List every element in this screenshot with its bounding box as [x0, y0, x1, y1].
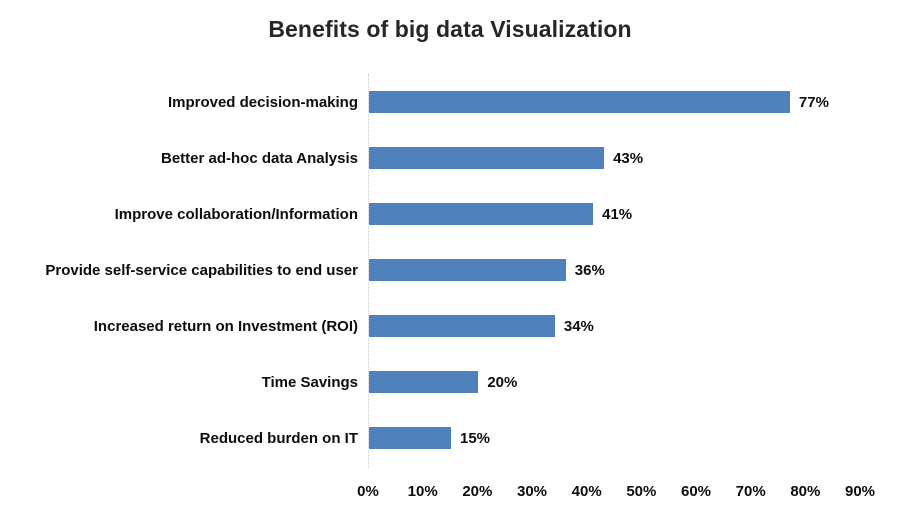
bar-value-label: 41%	[602, 207, 632, 222]
x-axis-tick-label: 50%	[611, 483, 671, 500]
category-label: Improved decision-making	[0, 74, 358, 130]
category-label: Better ad-hoc data Analysis	[0, 130, 358, 186]
category-label: Time Savings	[0, 354, 358, 410]
bar-value-label: 43%	[613, 151, 643, 166]
bar-track: 34%	[369, 298, 900, 354]
bar-value-label: 20%	[487, 375, 517, 390]
category-label: Provide self-service capabilities to end…	[0, 242, 358, 298]
category-label: Increased return on Investment (ROI)	[0, 298, 358, 354]
bar-track: 36%	[369, 242, 900, 298]
bar-track: 43%	[369, 130, 900, 186]
bar[interactable]	[369, 147, 604, 169]
bar-track: 77%	[369, 74, 900, 130]
x-axis-tick-label: 0%	[338, 483, 398, 500]
bar-row: Provide self-service capabilities to end…	[0, 242, 900, 298]
bar-track: 15%	[369, 410, 900, 466]
x-axis-tick-label: 60%	[666, 483, 726, 500]
x-axis-tick-labels: 0%10%20%30%40%50%60%70%80%90%	[368, 483, 860, 507]
bar-row: Improved decision-making77%	[0, 74, 900, 130]
category-label: Improve collaboration/Information	[0, 186, 358, 242]
x-axis-tick-label: 40%	[557, 483, 617, 500]
bar[interactable]	[369, 315, 555, 337]
x-axis-tick-label: 10%	[393, 483, 453, 500]
bar[interactable]	[369, 91, 790, 113]
bar-row: Better ad-hoc data Analysis43%	[0, 130, 900, 186]
category-label: Reduced burden on IT	[0, 410, 358, 466]
bar-track: 41%	[369, 186, 900, 242]
bar-value-label: 15%	[460, 431, 490, 446]
bar-track: 20%	[369, 354, 900, 410]
bar-value-label: 36%	[575, 263, 605, 278]
bar[interactable]	[369, 259, 566, 281]
bar-value-label: 34%	[564, 319, 594, 334]
bar-value-label: 77%	[799, 95, 829, 110]
bar-row: Reduced burden on IT15%	[0, 410, 900, 466]
x-axis-tick-label: 80%	[775, 483, 835, 500]
x-axis-tick-label: 90%	[830, 483, 890, 500]
x-axis-tick-label: 30%	[502, 483, 562, 500]
bar[interactable]	[369, 371, 478, 393]
bar[interactable]	[369, 427, 451, 449]
bar-row: Time Savings20%	[0, 354, 900, 410]
x-axis-tick-label: 20%	[447, 483, 507, 500]
plot-area: Improved decision-making77%Better ad-hoc…	[0, 0, 900, 525]
bar-row: Improve collaboration/Information41%	[0, 186, 900, 242]
bar[interactable]	[369, 203, 593, 225]
bar-row: Increased return on Investment (ROI)34%	[0, 298, 900, 354]
bar-chart: Benefits of big data Visualization Impro…	[0, 0, 900, 525]
x-axis-tick-label: 70%	[721, 483, 781, 500]
